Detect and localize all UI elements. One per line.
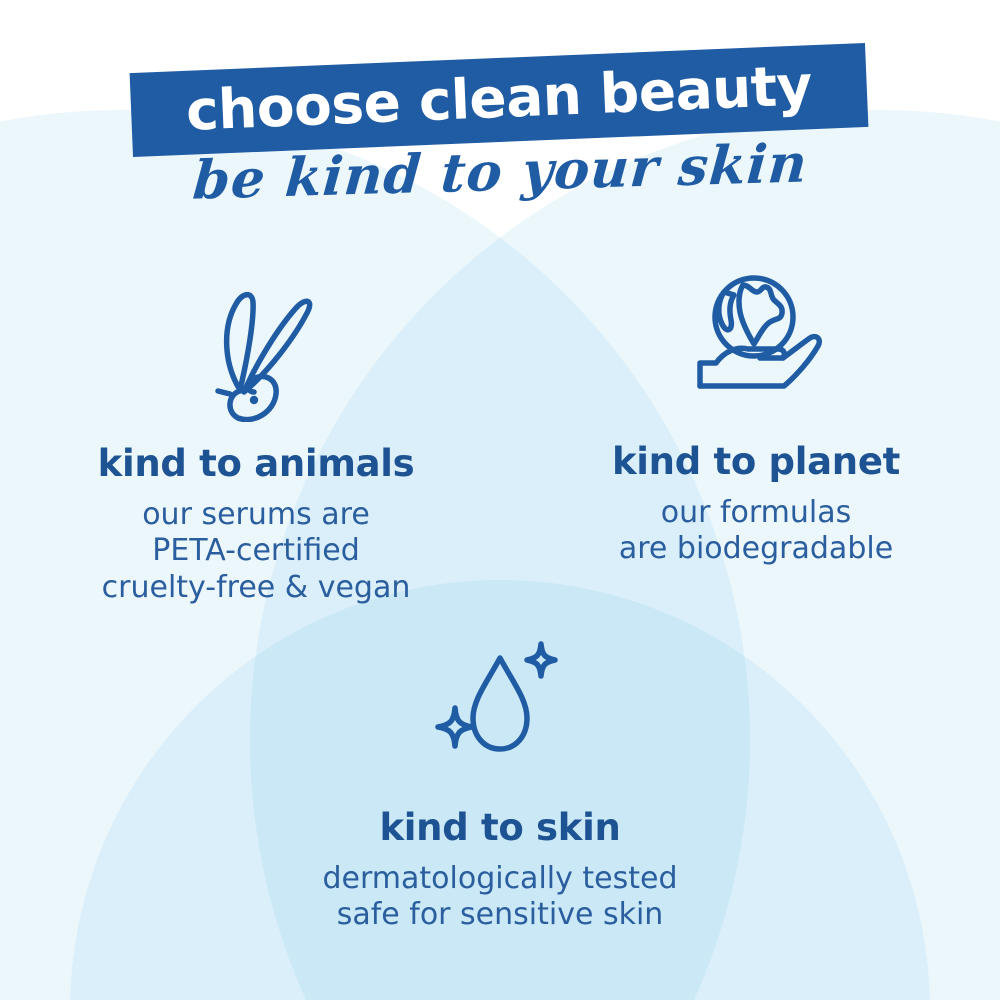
header-subtitle-area: be kind to your skin [0,146,1000,199]
globe-in-hand-icon [686,268,826,398]
infographic-canvas: choose clean beauty be kind to your skin [0,0,1000,1000]
feature-body-animals: our serums are PETA-certified cruelty-fr… [0,497,512,607]
feature-body-line: PETA-certified [0,533,512,570]
feature-block-animals: kind to animals our serums are PETA-cert… [0,272,512,606]
water-droplet-sparkle-icon [435,630,565,770]
feature-block-skin: kind to skin dermatologically tested saf… [250,630,750,934]
feature-body-planet: our formulas are biodegradable [512,495,1000,568]
feature-body-line: cruelty-free & vegan [0,570,512,607]
feature-body-line: dermatologically tested [250,861,750,898]
feature-block-planet: kind to planet our formulas are biodegra… [512,268,1000,568]
feature-body-line: our serums are [0,497,512,534]
bunny-rabbit-icon [196,272,316,422]
feature-body-line: safe for sensitive skin [250,897,750,934]
feature-body-line: our formulas [512,495,1000,532]
feature-body-skin: dermatologically tested safe for sensiti… [250,861,750,934]
icon-slot-animals [0,272,512,422]
feature-title-planet: kind to planet [512,442,1000,483]
header-banner-label: choose clean beauty [185,58,813,143]
icon-slot-skin [250,630,750,770]
icon-slot-planet [512,268,1000,418]
feature-title-animals: kind to animals [0,444,512,485]
header-subtitle-label: be kind to your skin [191,137,810,207]
feature-body-line: are biodegradable [512,531,1000,568]
feature-title-skin: kind to skin [250,808,750,849]
